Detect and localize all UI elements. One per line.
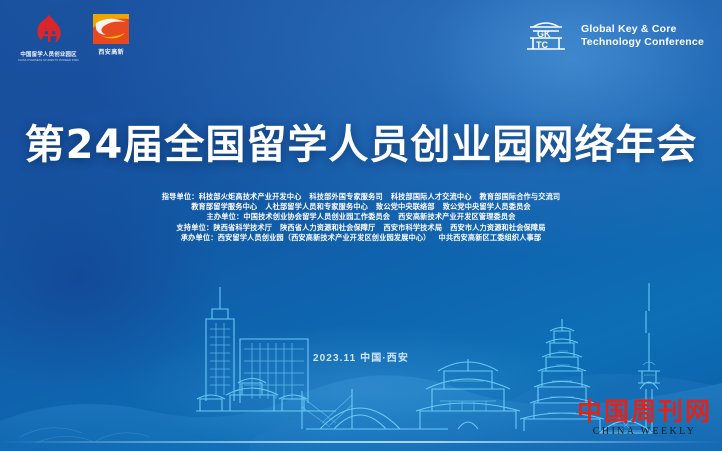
svg-text:TC: TC (536, 40, 548, 50)
organizer-line: 指导单位：科技部火炬高技术产业开发中心科技部外国专家服务司科技部国际人才交流中心… (0, 192, 722, 202)
logo-xian-hi-tech: 西安高新 (93, 14, 129, 56)
organizer-entity: 教育部国际合作与交流司 (480, 192, 561, 201)
organizer-entity: 西安留学人员创业园（西安高新技术产业开发区创业园发展中心） (218, 233, 431, 242)
ground-glow-line (0, 441, 722, 443)
flame-torch-icon (27, 14, 71, 48)
organizer-entity: 人社部留学人员和专家服务中心 (265, 202, 368, 211)
organizer-label: 主办单位： (206, 212, 243, 221)
organizer-entity: 西安市科学技术局 (383, 223, 442, 232)
organizer-line: 教育部留学服务中心人社部留学人员和专家服务中心致公党中央联络部致公党中央留学人员… (0, 202, 722, 212)
organizer-label: 承办单位： (181, 233, 218, 242)
svg-text:GK: GK (537, 29, 551, 39)
organizer-entity: 致公党中央留学人员委员会 (443, 202, 531, 211)
organizer-entity: 陕西省人力资源和社会保障厅 (280, 223, 375, 232)
organizer-label: 支持单位： (176, 223, 213, 232)
organizer-entity: 中国技术创业协会留学人员创业园工作委员会 (243, 212, 390, 221)
logo-label-cn: 中国留学人员创业园区 (20, 50, 76, 58)
organizer-entity: 科技部外国专家服务司 (309, 192, 382, 201)
organizer-line: 主办单位：中国技术创业协会留学人员创业园工作委员会西安高新技术产业开发区管理委员… (0, 212, 722, 222)
conference-poster: 中国留学人员创业园区 CHINA OVERSEAS STUDENTS PIONE… (0, 0, 722, 451)
organizer-entity: 教育部留学服务中心 (191, 202, 257, 211)
organizer-entity: 陕西省科学技术厅 (213, 223, 272, 232)
organizer-entity: 致公党中央联络部 (376, 202, 435, 211)
organizer-entity: 中共西安高新区工委组织人事部 (439, 233, 542, 242)
poster-header: 中国留学人员创业园区 CHINA OVERSEAS STUDENTS PIONE… (0, 0, 722, 78)
sponsor-logo-group: 中国留学人员创业园区 CHINA OVERSEAS STUDENTS PIONE… (18, 14, 129, 62)
organizer-entity: 西安市人力资源和社会保障局 (450, 223, 545, 232)
organizer-label: 指导单位： (162, 192, 199, 201)
conference-logo-line2: Technology Conference (581, 36, 704, 49)
organizer-list: 指导单位：科技部火炬高技术产业开发中心科技部外国专家服务司科技部国际人才交流中心… (0, 192, 722, 243)
watermark-english: CHINA WEEKLY (577, 426, 712, 437)
poster-title: 第24届全国留学人员创业园网络年会 (0, 112, 722, 170)
organizer-entity: 西安高新技术产业开发区管理委员会 (398, 212, 515, 221)
organizer-entity: 科技部国际人才交流中心 (391, 192, 472, 201)
organizer-entity: 科技部火炬高技术产业开发中心 (199, 192, 302, 201)
watermark-chinese: 中国周刊网 (577, 398, 712, 425)
watermark: 中国周刊网 CHINA WEEKLY (577, 398, 712, 437)
conference-logo-group: GK TC Global Key & Core Technology Confe… (520, 16, 704, 56)
conference-logo-line1: Global Key & Core (581, 23, 704, 36)
logo-label-en: CHINA OVERSEAS STUDENTS PIONEER PARK (18, 59, 79, 62)
organizer-line: 支持单位：陕西省科学技术厅陕西省人力资源和社会保障厅西安市科学技术局西安市人力资… (0, 223, 722, 233)
organizer-line: 承办单位：西安留学人员创业园（西安高新技术产业开发区创业园发展中心）中共西安高新… (0, 233, 722, 243)
logo-label-xian: 西安高新 (98, 47, 124, 56)
logo-china-overseas-pioneer-park: 中国留学人员创业园区 CHINA OVERSEAS STUDENTS PIONE… (18, 14, 79, 62)
xian-hitech-swoosh-icon (93, 14, 129, 44)
pagoda-gktc-icon: GK TC (520, 16, 572, 56)
conference-logo-text: Global Key & Core Technology Conference (581, 23, 704, 49)
